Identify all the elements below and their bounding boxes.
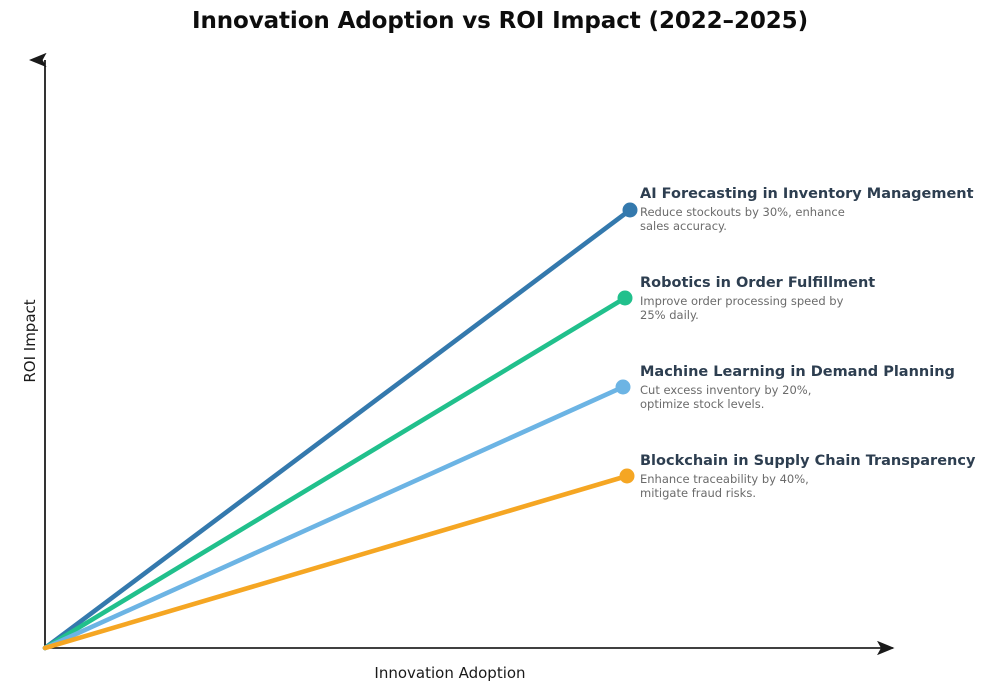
annotation-description: Reduce stockouts by 30%, enhance sales a… (640, 205, 1000, 234)
plot-area (0, 0, 1000, 700)
annotation-blockchain: Blockchain in Supply Chain Transparency … (640, 453, 1000, 501)
chart-canvas: Innovation Adoption vs ROI Impact (2022–… (0, 0, 1000, 700)
annotation-description: Enhance traceability by 40%, mitigate fr… (640, 472, 1000, 501)
annotation-robotics: Robotics in Order Fulfillment Improve or… (640, 275, 1000, 323)
annotation-headline: Blockchain in Supply Chain Transparency (640, 453, 1000, 470)
series-line-ai-forecasting (45, 203, 638, 649)
annotation-description: Improve order processing speed by 25% da… (640, 294, 1000, 323)
series-endpoint-marker (620, 469, 635, 484)
annotation-headline: AI Forecasting in Inventory Management (640, 186, 1000, 203)
annotation-headline: Machine Learning in Demand Planning (640, 364, 1000, 381)
series-endpoint-marker (616, 380, 631, 395)
annotation-ai-forecasting: AI Forecasting in Inventory Management R… (640, 186, 1000, 234)
annotation-headline: Robotics in Order Fulfillment (640, 275, 1000, 292)
series-endpoint-marker (618, 291, 633, 306)
y-axis-title: ROI Impact (21, 281, 39, 401)
series-line-machine-learning (45, 380, 631, 649)
annotation-description: Cut excess inventory by 20%, optimize st… (640, 383, 1000, 412)
series-line-blockchain (45, 469, 635, 649)
series-line-robotics (45, 291, 633, 649)
annotation-machine-learning: Machine Learning in Demand Planning Cut … (640, 364, 1000, 412)
x-axis-title: Innovation Adoption (0, 664, 900, 682)
series-endpoint-marker (623, 203, 638, 218)
